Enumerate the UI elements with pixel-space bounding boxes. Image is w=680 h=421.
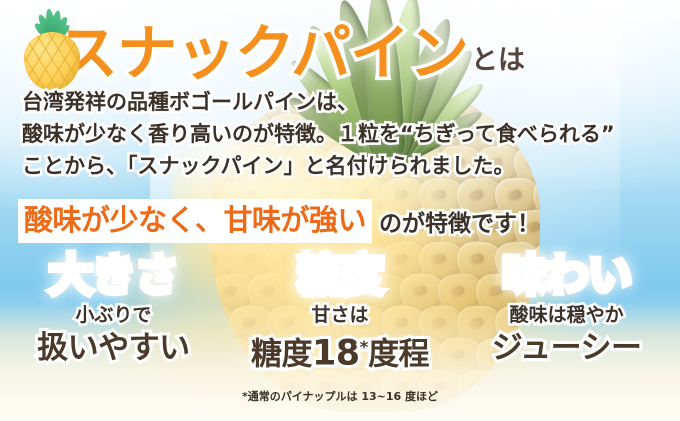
feature-main-taste: ジューシー [453,328,680,368]
feature-columns: 大きさ 小ぶりで 扱いやすい 糖度 甘さは 糖度18*度程 味わい 酸味は穏やか… [0,250,680,395]
sugar-value: 18 [312,333,360,373]
feature-heading-size: 大きさ [0,250,227,302]
feature-sub-sugar: 甘さは [227,302,454,328]
feature-heading-taste: 味わい [453,250,680,302]
highlight-banner: 酸味が少なく、甘味が強い のが特徴です！ [18,199,540,243]
feature-main-size: 扱いやすい [0,328,227,368]
footnote: *通常のパイナップルは 13~16 度ほど [0,388,680,404]
sugar-asterisk: * [360,338,368,358]
feature-heading-sugar: 糖度 [227,250,454,302]
feature-column-size: 大きさ 小ぶりで 扱いやすい [0,250,227,395]
description-block: 台湾発祥の品種ボゴールパインは、 酸味が少なく香り高いのが特徴。１粒を“ちぎって… [22,86,662,182]
page-title-suffix: とは [471,38,525,77]
description-line-2: 酸味が少なく香り高いのが特徴。１粒を“ちぎって食べられる” [22,118,662,150]
highlight-banner-tail: のが特徴です！ [379,204,540,238]
page-title: スナックパイン [58,24,468,84]
feature-sub-taste: 酸味は穏やか [453,302,680,328]
title-row: スナックパイン とは [14,6,534,84]
feature-sub-size: 小ぶりで [0,302,227,328]
feature-column-sugar: 糖度 甘さは 糖度18*度程 [227,250,454,395]
feature-main-sugar: 糖度18*度程 [227,328,454,374]
highlight-banner-strong: 酸味が少なく、甘味が強い [18,199,372,243]
feature-column-taste: 味わい 酸味は穏やか ジューシー [453,250,680,395]
description-line-1: 台湾発祥の品種ボゴールパインは、 [22,86,662,118]
promo-banner: スナックパイン とは 台湾発祥の品種ボゴールパインは、 酸味が少なく香り高いのが… [0,0,680,421]
sugar-prefix: 糖度 [251,336,312,372]
sugar-suffix: 度程 [368,336,429,372]
pineapple-icon-body [24,32,80,90]
description-line-3: ことから、「スナックパイン」と名付けられました。 [22,150,662,182]
pineapple-icon [18,6,84,92]
